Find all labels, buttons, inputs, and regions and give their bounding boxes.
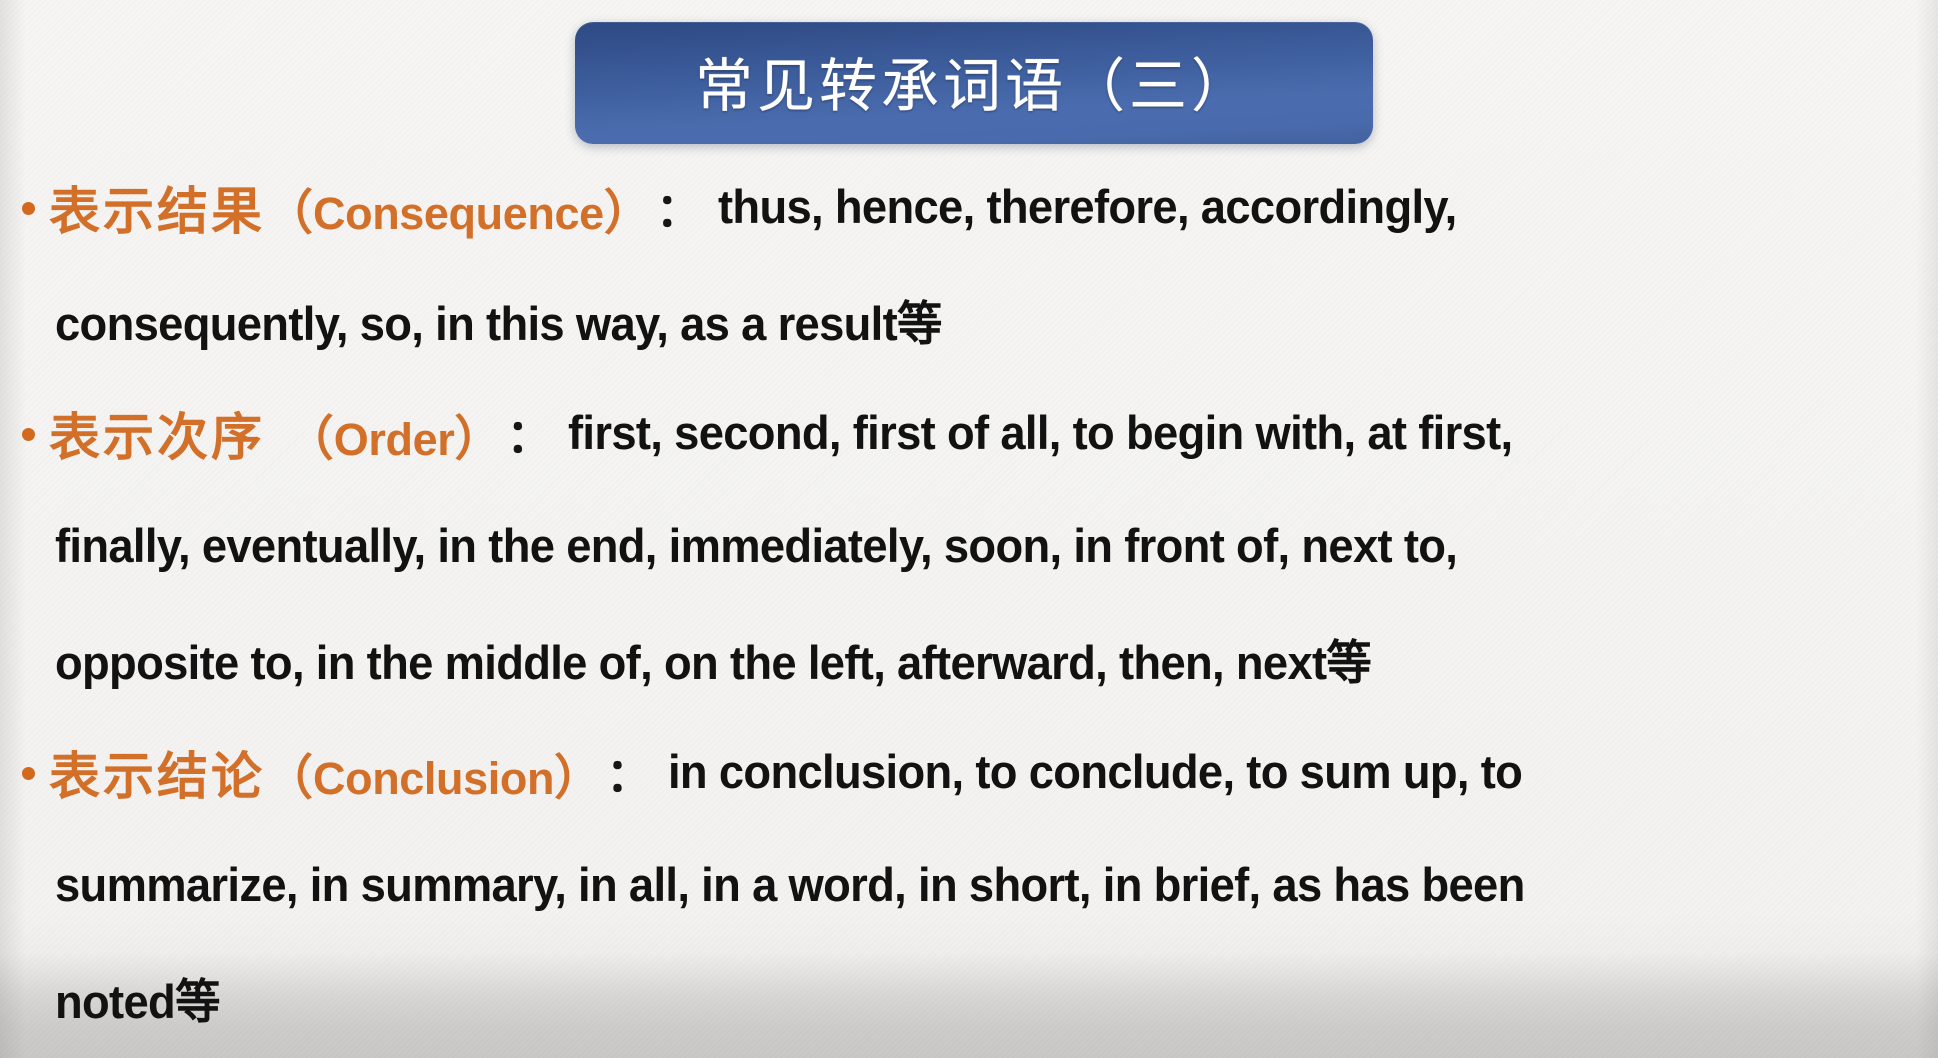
bullet-text-line: finally, eventually, in the end, immedia… [55,518,1457,573]
bullet-dot-icon [22,202,35,215]
bullet-first-line: 表示次序 （Order） ： first, second, first of a… [0,376,1938,489]
bullet-label-open-paren: （ [265,185,313,241]
bullet-label-en: Consequence [313,188,604,239]
bullet-label-cjk: 表示次序 [49,409,286,468]
bullet-separator: ： [502,400,558,466]
page-title: 常见转承词语（三） [695,39,1253,123]
bullet-label-open-paren: （ [265,750,313,806]
slide-body: 表示结果（Consequence） ： thus, hence, therefo… [0,150,1938,1054]
bullet-label-close-paren: ） [454,411,502,467]
bullet-first-line: 表示结论（Conclusion） ： in conclusion, to con… [0,715,1938,828]
bullet-text-line: opposite to, in the middle of, on the le… [55,624,1371,693]
bullet-item-consequence: 表示结果（Consequence） ： thus, hence, therefo… [0,150,1938,376]
bullet-label-open-paren: （ [286,411,334,467]
bullet-text-line: summarize, in summary, in all, in a word… [55,857,1525,912]
slide-canvas: 常见转承词语（三） 表示结果（Consequence） ： thus, henc… [0,0,1938,1058]
bullet-label-cjk: 表示结论 [49,748,265,807]
bullet-text-line: consequently, so, in this way, as a resu… [55,285,942,354]
bullet-label-cjk: 表示结果 [49,183,265,242]
bullet-label-close-paren: ） [554,750,602,806]
bullet-continuation-line: finally, eventually, in the end, immedia… [0,489,1938,602]
bullet-label: 表示次序 （Order） [49,396,502,470]
bullet-text-line: noted等 [55,963,220,1032]
bullet-label-en: Conclusion [313,753,554,804]
bullet-separator: ： [652,174,708,240]
bullet-item-order: 表示次序 （Order） ： first, second, first of a… [0,376,1938,715]
bullet-label: 表示结果（Consequence） [49,170,652,244]
bullet-label-en: Order [334,414,455,465]
bullet-continuation-line: opposite to, in the middle of, on the le… [0,602,1938,715]
bullet-separator: ： [602,739,658,805]
title-banner: 常见转承词语（三） [575,22,1373,144]
bullet-text-line: thus, hence, therefore, accordingly, [718,179,1457,234]
bullet-continuation-line: noted等 [0,941,1938,1054]
bullet-dot-icon [22,767,35,780]
bullet-label-close-paren: ） [604,185,652,241]
bullet-continuation-line: summarize, in summary, in all, in a word… [0,828,1938,941]
bullet-continuation-line: consequently, so, in this way, as a resu… [0,263,1938,376]
bullet-label: 表示结论（Conclusion） [49,735,602,809]
bullet-dot-icon [22,428,35,441]
bullet-item-conclusion: 表示结论（Conclusion） ： in conclusion, to con… [0,715,1938,1054]
bullet-first-line: 表示结果（Consequence） ： thus, hence, therefo… [0,150,1938,263]
bullet-text-line: in conclusion, to conclude, to sum up, t… [668,744,1522,799]
bullet-text-line: first, second, first of all, to begin wi… [568,405,1512,460]
